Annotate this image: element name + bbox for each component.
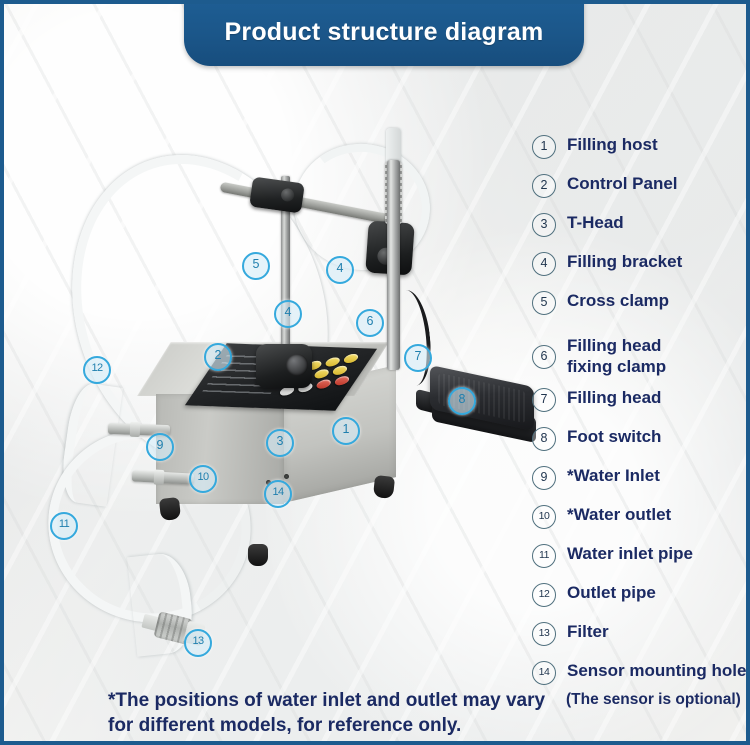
legend-item-label: *Water Inlet [567,463,660,486]
legend-number-badge: 12 [532,583,556,607]
callout-outlet-pipe: 12 [83,356,111,384]
legend-number-badge: 1 [532,135,556,159]
product-diagram-page: Product structure diagram [0,0,750,745]
legend-item-label: Control Panel [567,171,678,194]
legend-number-badge: 2 [532,174,556,198]
sensor-mounting-hole [284,474,289,479]
machine-foot [248,544,268,566]
legend-item-6: 6Filling head fixing clamp [532,327,748,383]
callout-water-inlet-pipe: 11 [50,512,78,540]
callout-sensor-hole: 14 [264,480,292,508]
legend-item-13: 13Filter [532,619,748,656]
legend-number-badge: 7 [532,388,556,412]
legend-number-badge: 8 [532,427,556,451]
callout-filling-bracket-post: 4 [274,300,302,328]
legend-number-badge: 4 [532,252,556,276]
control-panel-button-red[interactable] [314,379,333,388]
legend-item-7: 7Filling head [532,385,748,422]
control-panel-button-yellow[interactable] [331,366,350,375]
legend-number-badge: 10 [532,505,556,529]
legend-item-11: 11Water inlet pipe [532,541,748,578]
callout-fixing-clamp: 6 [356,309,384,337]
legend-number-badge: 14 [532,661,556,685]
callout-filling-host: 1 [332,417,360,445]
legend-number-badge: 3 [532,213,556,237]
foot-switch[interactable] [416,372,538,444]
legend-number-badge: 6 [532,345,556,369]
legend-item-label: Filling head fixing clamp [567,333,666,377]
legend-item-label: Foot switch [567,424,661,447]
footnote: *The positions of water inlet and outlet… [108,688,648,738]
legend-item-label: Sensor mounting hole [567,658,746,681]
legend-item-label: Filling bracket [567,249,682,272]
page-title: Product structure diagram [225,18,544,47]
legend-item-label: Filling host [567,132,658,155]
legend-item-label: Cross clamp [567,288,669,311]
callout-t-head: 3 [266,429,294,457]
callout-cross-clamp: 5 [242,252,270,280]
legend-item-label: Filling head [567,385,661,408]
legend-item-label: *Water outlet [567,502,671,525]
fitting-ring [154,470,165,486]
page-title-banner: Product structure diagram [184,0,584,66]
t-head-clamp [256,344,312,388]
footnote-line-2: for different models, for reference only… [108,713,648,738]
legend-item-label: T-Head [567,210,624,233]
legend-item-4: 4Filling bracket [532,249,748,286]
legend-item-9: 9*Water Inlet [532,463,748,500]
footnote-line-1: *The positions of water inlet and outlet… [108,688,648,713]
callout-filling-head: 7 [404,344,432,372]
fitting-ring [130,422,141,437]
legend-item-label: Water inlet pipe [567,541,693,564]
legend-number-badge: 11 [532,544,556,568]
callout-foot-switch: 8 [448,387,476,415]
legend-item-1: 1Filling host [532,132,748,169]
legend-number-badge: 5 [532,291,556,315]
legend-list: 1Filling host2Control Panel3T-Head4Filli… [532,132,748,709]
legend-item-8: 8Foot switch [532,424,748,461]
callout-water-outlet: 10 [189,465,217,493]
legend-item-label: Outlet pipe [567,580,656,603]
legend-item-12: 12Outlet pipe [532,580,748,617]
callout-filter: 13 [184,629,212,657]
legend-item-5: 5Cross clamp [532,288,748,325]
control-panel-button-yellow[interactable] [342,354,361,363]
control-panel-button-red[interactable] [333,376,352,385]
control-panel-button-yellow[interactable] [312,369,331,378]
legend-item-10: 10*Water outlet [532,502,748,539]
legend-item-3: 3T-Head [532,210,748,247]
legend-number-badge: 13 [532,622,556,646]
legend-number-badge: 9 [532,466,556,490]
callout-control-panel: 2 [204,343,232,371]
legend-item-2: 2Control Panel [532,171,748,208]
machine-foot [373,475,395,499]
legend-item-label: Filter [567,619,609,642]
callout-water-inlet: 9 [146,433,174,461]
callout-filling-bracket-arm: 4 [326,256,354,284]
